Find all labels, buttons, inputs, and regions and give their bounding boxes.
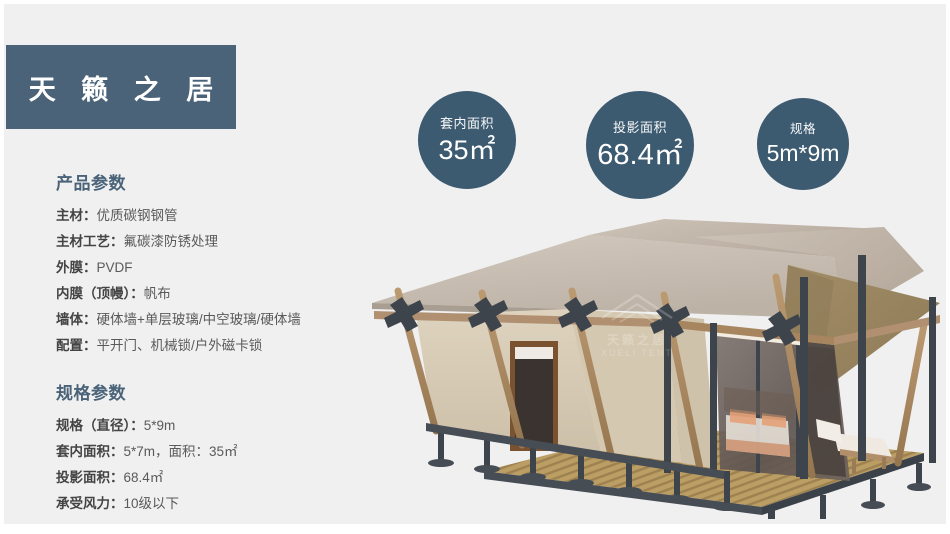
stat-value: 35㎡ xyxy=(438,137,495,164)
stat-label: 套内面积 xyxy=(440,117,494,130)
stat-label: 规格 xyxy=(790,123,816,136)
stat-circle-interior-area: 套内面积 35㎡ xyxy=(418,91,516,189)
spec-row: 内膜（顶幔）：帆布 xyxy=(56,281,386,307)
spec-key: 配置： xyxy=(56,338,97,353)
tent-house-render xyxy=(364,219,946,519)
spec-row: 投影面积：68.4㎡ xyxy=(56,465,386,491)
spec-key: 外膜： xyxy=(56,260,97,275)
stat-circle-dimensions: 规格 5m*9m xyxy=(757,98,849,190)
pedestal xyxy=(907,463,931,491)
steel-column xyxy=(800,277,808,479)
product-spec-canvas: 天 籁 之 居 产品参数 主材：优质碳钢钢管 主材工艺：氟碳漆防锈处理 外膜：P… xyxy=(4,4,946,524)
spec-row: 主材工艺：氟碳漆防锈处理 xyxy=(56,229,386,255)
spec-row: 主材：优质碳钢钢管 xyxy=(56,203,386,229)
spec-key: 规格（直径）： xyxy=(56,418,144,433)
section-specification-parameters: 规格参数 规格（直径）：5*9m 套内面积：5*7m，面积：35㎡ 投影面积：6… xyxy=(56,379,386,517)
spec-value: 优质碳钢钢管 xyxy=(97,208,178,223)
spec-value: 平开门、机械锁/户外磁卡锁 xyxy=(97,338,263,353)
spec-key: 主材工艺： xyxy=(56,234,124,249)
stat-value: 68.4㎡ xyxy=(597,141,682,170)
spec-row: 墙体：硬体墙+单层玻璃/中空玻璃/硬体墙 xyxy=(56,307,386,333)
steel-column xyxy=(858,255,866,461)
steel-column xyxy=(929,297,936,463)
spec-key: 承受风力： xyxy=(56,496,124,511)
tent-house-render-svg xyxy=(364,219,946,519)
spec-value: 5*7m，面积：35㎡ xyxy=(124,444,238,459)
spec-key: 墙体： xyxy=(56,312,97,327)
window-header-left xyxy=(515,347,553,359)
pedestal xyxy=(861,479,885,509)
lounger-leg xyxy=(882,457,886,469)
section-heading-specs: 规格参数 xyxy=(56,379,386,404)
spec-key: 内膜（顶幔）： xyxy=(56,286,144,301)
spec-row: 套内面积：5*7m，面积：35㎡ xyxy=(56,439,386,465)
spec-row: 规格（直径）：5*9m xyxy=(56,413,386,439)
timber-brace xyxy=(898,325,924,463)
stat-value: 5m*9m xyxy=(767,142,840,165)
section-heading-product: 产品参数 xyxy=(56,169,386,194)
stat-label: 投影面积 xyxy=(613,121,667,134)
spec-value: 氟碳漆防锈处理 xyxy=(124,234,219,249)
spec-row: 配置：平开门、机械锁/户外磁卡锁 xyxy=(56,333,386,359)
spec-value: 帆布 xyxy=(144,286,171,301)
pedestal xyxy=(810,495,836,519)
spec-value: 硬体墙+单层玻璃/中空玻璃/硬体墙 xyxy=(97,312,301,327)
spec-panel: 产品参数 主材：优质碳钢钢管 主材工艺：氟碳漆防锈处理 外膜：PVDF 内膜（顶… xyxy=(56,169,386,524)
page-root: 天 籁 之 居 产品参数 主材：优质碳钢钢管 主材工艺：氟碳漆防锈处理 外膜：P… xyxy=(0,0,950,534)
spec-value: 5*9m xyxy=(144,418,176,433)
steel-column xyxy=(710,323,717,475)
spec-value: 68.4㎡ xyxy=(124,470,164,485)
page-title: 天 籁 之 居 xyxy=(20,68,223,107)
title-banner: 天 籁 之 居 xyxy=(6,45,236,129)
section-product-parameters: 产品参数 主材：优质碳钢钢管 主材工艺：氟碳漆防锈处理 外膜：PVDF 内膜（顶… xyxy=(56,169,386,359)
spec-key: 套内面积： xyxy=(56,444,124,459)
spec-key: 主材： xyxy=(56,208,97,223)
lounger-leg xyxy=(852,459,856,473)
spec-row: 承受风力：10级以下 xyxy=(56,491,386,517)
stat-circle-projected-area: 投影面积 68.4㎡ xyxy=(586,91,694,199)
spec-value: PVDF xyxy=(97,260,133,275)
spec-row: 外膜：PVDF xyxy=(56,255,386,281)
spec-value: 10级以下 xyxy=(124,496,180,511)
spec-key: 投影面积： xyxy=(56,470,124,485)
steel-column xyxy=(664,315,671,473)
